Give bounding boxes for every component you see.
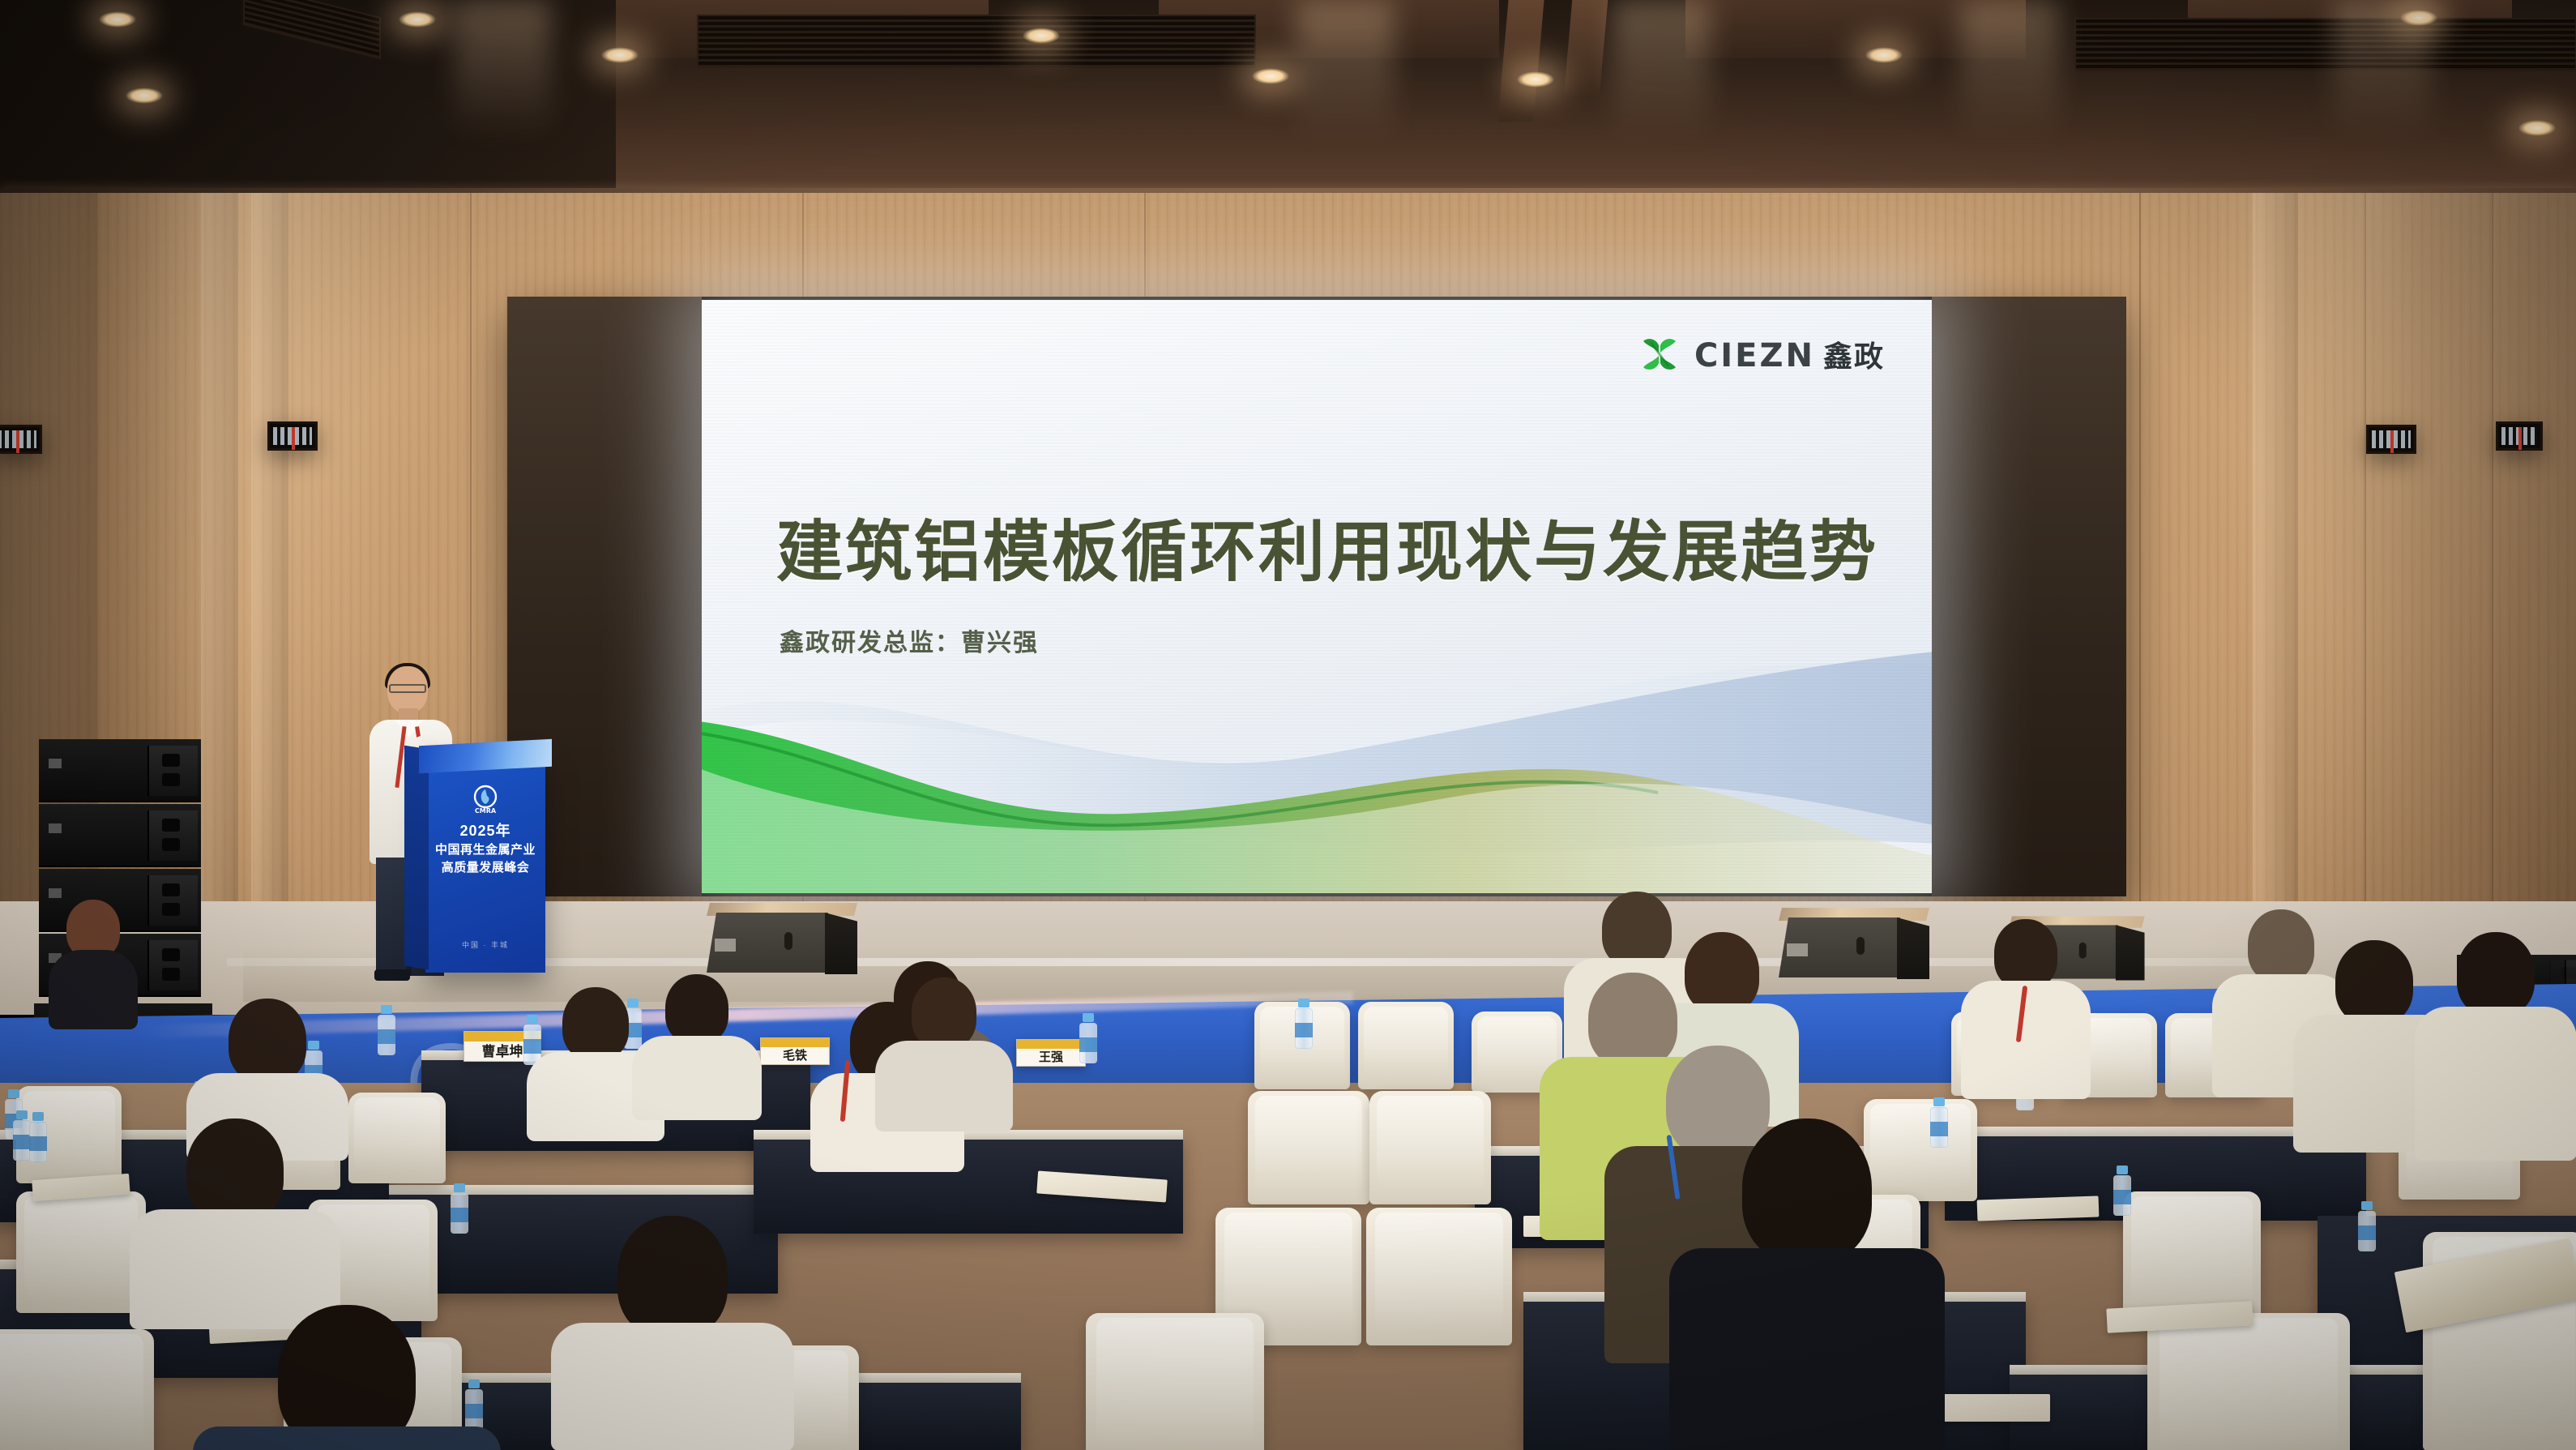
wall-sconce-light <box>267 421 318 451</box>
wall-sconce-light <box>2366 425 2416 454</box>
audience-member <box>1961 919 2091 1097</box>
ceiling-downlight <box>1517 71 1554 88</box>
ceiling-vent-grille <box>697 15 1256 68</box>
table-nameplate: 王强 <box>1016 1039 1086 1067</box>
water-bottle <box>451 1183 468 1234</box>
presenter-glasses <box>389 684 426 693</box>
podium-line2: 中国再生金属产业 <box>425 841 545 859</box>
ceiling-downlight <box>2400 10 2437 26</box>
audience-member <box>130 1119 340 1329</box>
ceiling-downlight <box>1865 47 1903 63</box>
wall-sconce-light <box>2496 421 2543 451</box>
presenter-shoe <box>374 969 410 981</box>
ceiling-downlight <box>1252 68 1289 84</box>
water-bottle <box>13 1110 31 1161</box>
wall-sconce-light <box>0 425 42 454</box>
audience-chair <box>1086 1313 1264 1450</box>
podium-line3: 高质量发展峰会 <box>425 859 545 877</box>
water-bottle <box>29 1112 47 1162</box>
ceiling-light-wash <box>454 0 551 162</box>
ceiling-downlight <box>99 11 136 28</box>
water-bottle <box>1079 1013 1097 1063</box>
water-bottle <box>2358 1201 2376 1251</box>
ceiling-beam <box>1497 0 1544 122</box>
audience-chair <box>348 1093 446 1183</box>
brand-logo: CIEZN 鑫政 <box>1636 331 1885 378</box>
audience-member <box>193 1305 501 1450</box>
slide-title: 建筑铝模板循环利用现状与发展趋势 <box>776 498 1862 594</box>
screen-side-panel <box>1932 297 2126 896</box>
cmra-logo-icon: CMRA <box>469 783 502 815</box>
ceiling-downlight <box>1023 28 1060 44</box>
audience-chair <box>16 1191 146 1313</box>
audience-chair <box>1358 1002 1454 1089</box>
ceiling-vent-grille <box>2074 18 2576 71</box>
presentation-slide: CIEZN 鑫政 建筑铝模板循环利用现状与发展趋势 鑫政研发总监：曹兴强 <box>702 300 1932 893</box>
audience-chair <box>1369 1091 1491 1204</box>
audience-member <box>632 974 762 1120</box>
conference-hall-photo: CIEZN 鑫政 建筑铝模板循环利用现状与发展趋势 鑫政研发总监：曹兴强 <box>0 0 2576 1450</box>
ciezn-pinwheel-icon <box>1636 331 1683 378</box>
ceiling-light-wash <box>1297 0 1394 162</box>
audience-chair <box>2147 1313 2350 1450</box>
water-bottle <box>1295 999 1313 1049</box>
podium-event-title: 2025年 中国再生金属产业 高质量发展峰会 <box>425 820 545 877</box>
ceiling-downlight <box>2518 120 2556 136</box>
ceiling-downlight <box>601 47 639 63</box>
conference-document <box>1977 1196 2100 1221</box>
logo-latin-text: CIEZN <box>1694 337 1815 374</box>
ceiling-light-wash <box>1613 0 1710 162</box>
water-bottle <box>378 1005 395 1055</box>
ceiling <box>0 0 2576 203</box>
audience-member <box>551 1216 794 1450</box>
wall-shadow <box>2284 193 2576 906</box>
svg-text:CMRA: CMRA <box>475 807 497 815</box>
ceiling-downlight <box>399 11 436 28</box>
stage-floor-monitor <box>1779 908 1929 979</box>
ceiling-light-wash <box>1961 0 2058 162</box>
audience-member <box>49 900 138 1029</box>
audience-chair <box>1248 1091 1369 1204</box>
slide-wave-graphic <box>702 642 1932 893</box>
logo-chinese-text: 鑫政 <box>1823 333 1885 375</box>
podium-year: 2025年 <box>425 820 545 841</box>
audience-member <box>1669 1119 1945 1450</box>
lectern-podium: CMRA 2025年 中国再生金属产业 高质量发展峰会 中国 · 丰城 <box>425 752 545 973</box>
stage-floor-monitor <box>707 903 857 974</box>
ceiling-beam <box>1564 0 1608 97</box>
water-bottle <box>2113 1166 2131 1216</box>
podium-location: 中国 · 丰城 <box>425 939 545 950</box>
nameplate-name: 王强 <box>1017 1048 1085 1065</box>
audience-member <box>2415 932 2576 1159</box>
ceiling-downlight <box>126 88 163 104</box>
audience-chair <box>1366 1208 1512 1345</box>
led-screen-assembly: CIEZN 鑫政 建筑铝模板循环利用现状与发展趋势 鑫政研发总监：曹兴强 <box>507 297 2126 896</box>
audience-member <box>875 977 1013 1131</box>
audience-chair <box>0 1329 154 1450</box>
